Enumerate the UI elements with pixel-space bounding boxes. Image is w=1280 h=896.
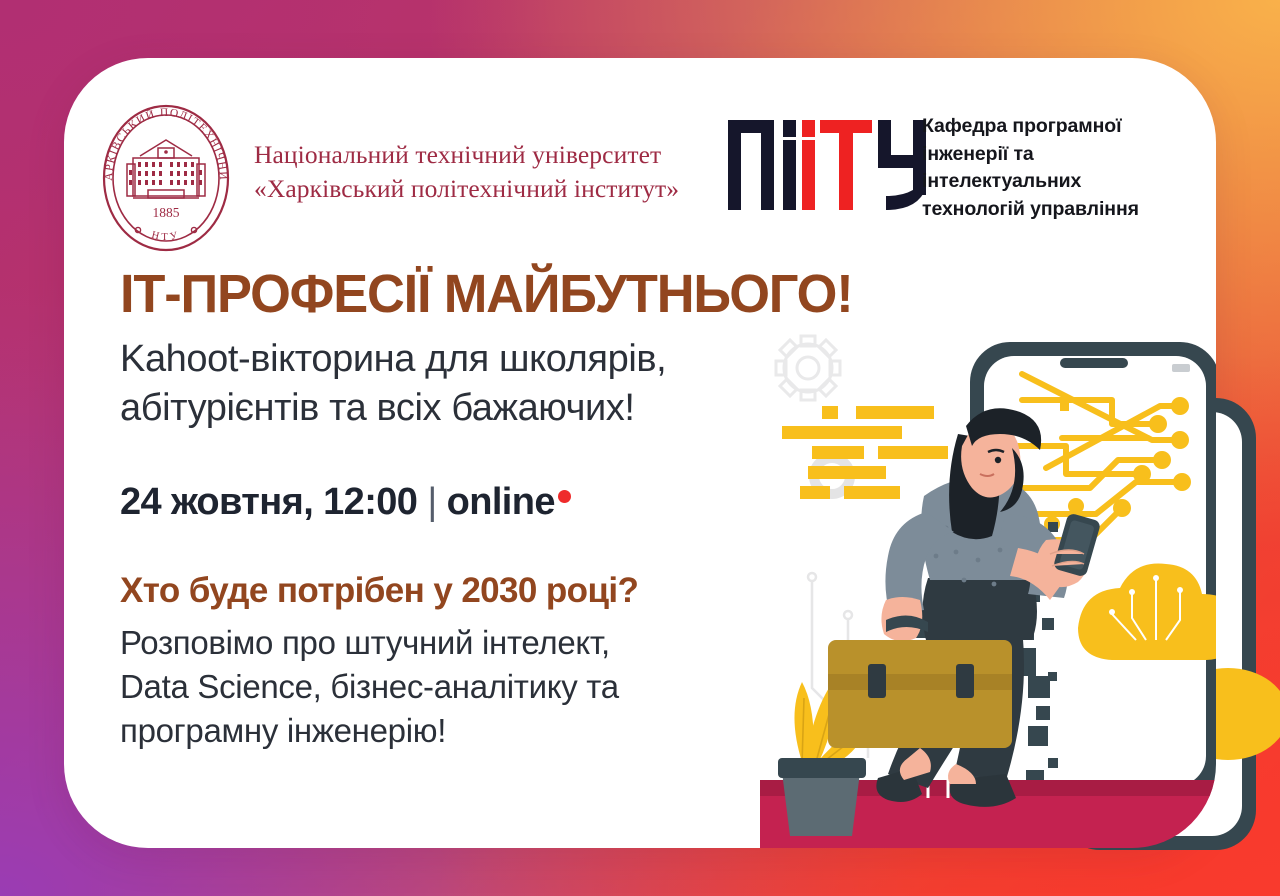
main-copy: ІТ-ПРОФЕСІЇ МАЙБУТНЬОГО! Kahoot-вікторин… (120, 266, 820, 752)
event-format: online (447, 482, 555, 524)
topics-line-3: програмну інженерію! (120, 712, 446, 749)
red-dot-icon (558, 490, 571, 503)
university-name-line2: «Харківський політехнічний інститут» (254, 172, 774, 206)
lead-text: Kahoot-вікторина для школярів, абітурієн… (120, 335, 820, 432)
page-title: ІТ-ПРОФЕСІЇ МАЙБУТНЬОГО! (120, 266, 799, 323)
poster-header: ХАРКІВСЬКИЙ ПОЛІТЕХНІЧНИЙ НТУ (64, 58, 1216, 248)
event-date: 24 жовтня, 12:00 (120, 482, 417, 524)
university-name: Національний технічний університет «Харк… (254, 138, 774, 205)
piitu-logo (726, 110, 931, 220)
logo-letter-i1 (783, 120, 796, 210)
logo-letter-u (878, 120, 926, 210)
white-card: ХАРКІВСЬКИЙ ПОЛІТЕХНІЧНИЙ НТУ (64, 58, 1216, 848)
question-heading: Хто буде потрібен у 2030 році? (120, 572, 820, 611)
topics-line-1: Розповімо про штучний інтелект, (120, 624, 610, 661)
svg-text:НТУ: НТУ (150, 230, 181, 243)
event-separator: | (427, 482, 436, 524)
logo-letter-i2 (802, 120, 815, 210)
lead-line-2: абітурієнтів та всіх бажаючих! (120, 387, 635, 429)
seal-year: 1885 (153, 205, 180, 220)
university-seal-icon: ХАРКІВСЬКИЙ ПОЛІТЕХНІЧНИЙ НТУ (92, 102, 240, 254)
poster: ХАРКІВСЬКИЙ ПОЛІТЕХНІЧНИЙ НТУ (0, 0, 1280, 896)
university-name-line1: Національний технічний університет (254, 138, 774, 172)
lead-line-1: Kahoot-вікторина для школярів, (120, 338, 666, 380)
event-datetime: 24 жовтня, 12:00 | online (120, 482, 820, 524)
topics-text: Розповімо про штучний інтелект, Data Sci… (120, 621, 820, 753)
topics-line-2: Data Science, бізнес-аналітику та (120, 668, 619, 705)
illustration (760, 328, 1216, 848)
logo-letter-t (820, 120, 872, 210)
department-name: Кафедра програмної інженерії та інтелект… (922, 113, 1182, 224)
svg-text:ХАРКІВСЬКИЙ ПОЛІТЕХНІЧНИЙ: ХАРКІВСЬКИЙ ПОЛІТЕХНІЧНИЙ (92, 102, 229, 181)
logo-letter-p (728, 120, 774, 210)
